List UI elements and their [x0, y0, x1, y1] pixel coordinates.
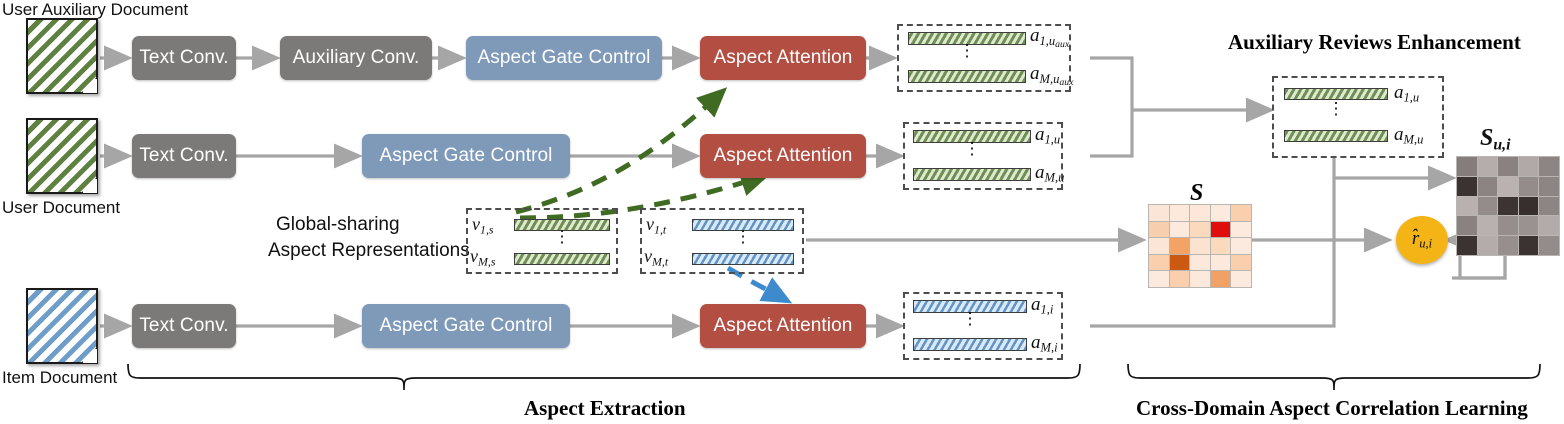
aux-aspect-attention-box[interactable]: Aspect Attention [700, 36, 866, 80]
global-source-label-first: v1,s [472, 214, 494, 237]
document-icon-user-auxiliary [26, 18, 98, 94]
matrix-cell-3-0 [1149, 255, 1169, 271]
aspect-output-label-item-first: a1,i [1031, 294, 1053, 318]
matrix-cell-0-2 [1190, 205, 1210, 221]
matrix-cell-1-3 [1519, 177, 1539, 196]
vertical-ellipsis: ⋮ [514, 234, 610, 240]
matrix-cell-3-3 [1519, 216, 1539, 235]
matrix-cell-1-1 [1478, 177, 1498, 196]
matrix-cell-0-3 [1211, 205, 1231, 221]
box-label: Text Conv. [139, 315, 228, 337]
box-label: Aspect Attention [714, 145, 853, 167]
page-fold-icon [81, 77, 97, 93]
matrix-cell-2-3 [1211, 238, 1231, 254]
item-aspect-gate-control-box[interactable]: Aspect Gate Control [362, 304, 570, 348]
box-label: Text Conv. [139, 47, 228, 69]
matrix-cell-3-4 [1231, 255, 1251, 271]
aux-auxiliary-conv-box[interactable]: Auxiliary Conv. [280, 36, 432, 80]
matrix-cell-4-4 [1231, 271, 1251, 287]
matrix-cell-2-1 [1478, 197, 1498, 216]
matrix-cell-4-1 [1170, 271, 1190, 287]
matrix-cell-3-1 [1478, 216, 1498, 235]
matrix-cell-3-2 [1498, 216, 1518, 235]
matrix-cell-4-0 [1149, 271, 1169, 287]
item-aspect-attention-box[interactable]: Aspect Attention [700, 304, 866, 348]
aspect-output-label-item-last: aM,i [1031, 332, 1058, 356]
matrix-cell-1-2 [1190, 222, 1210, 238]
matrix-cell-2-2 [1190, 238, 1210, 254]
box-label: Auxiliary Conv. [293, 47, 420, 69]
aspect-vector-bar [913, 168, 1031, 181]
enhanced-aspect-label-last: aM,u [1394, 124, 1423, 148]
matrix-cell-4-2 [1498, 236, 1518, 255]
box-label: Aspect Gate Control [380, 315, 553, 337]
matrix-cell-4-4 [1539, 236, 1559, 255]
user-aspect-attention-box[interactable]: Aspect Attention [700, 134, 866, 178]
matrix-cell-0-2 [1498, 157, 1518, 176]
aspect-output-label-aux-last: aM,uaux [1030, 63, 1073, 87]
matrix-cell-3-0 [1457, 216, 1477, 235]
matrix-cell-2-2 [1498, 197, 1518, 216]
enhanced-aspect-label-first: a1,u [1394, 82, 1419, 106]
global-sharing-caption-line2: Aspect Representations [268, 240, 470, 262]
matrix-cell-2-0 [1457, 197, 1477, 216]
global-source-label-last: vM,s [470, 246, 495, 269]
aspect-output-label-user-first: a1,u [1035, 124, 1060, 148]
vertical-ellipsis: ⋮ [913, 316, 1027, 322]
matrix-cell-3-2 [1190, 255, 1210, 271]
correlation-matrix-sui [1456, 156, 1560, 256]
matrix-cell-1-0 [1149, 222, 1169, 238]
aux-aspect-gate-control-box[interactable]: Aspect Gate Control [466, 36, 662, 80]
vertical-ellipsis: ⋮ [908, 48, 1026, 54]
global-target-label-first: v1,t [646, 214, 666, 237]
matrix-cell-1-4 [1231, 222, 1251, 238]
box-label: Aspect Gate Control [478, 47, 651, 69]
matrix-cell-2-3 [1519, 197, 1539, 216]
page-fold-icon [81, 347, 97, 363]
matrix-cell-0-3 [1519, 157, 1539, 176]
item-text-conv-box[interactable]: Text Conv. [132, 304, 236, 348]
matrix-cell-0-4 [1539, 157, 1559, 176]
section-title-cross-domain: Cross-Domain Aspect Correlation Learning [1136, 396, 1528, 421]
vertical-ellipsis: ⋮ [692, 234, 794, 240]
matrix-cell-4-2 [1190, 271, 1210, 287]
matrix-cell-0-1 [1478, 157, 1498, 176]
vertical-ellipsis: ⋮ [1284, 106, 1388, 112]
similarity-matrix-s [1148, 204, 1252, 288]
enhanced-aspect-vector-bar [1284, 130, 1388, 142]
user-text-conv-box[interactable]: Text Conv. [132, 134, 236, 178]
matrix-cell-2-0 [1149, 238, 1169, 254]
matrix-cell-0-0 [1457, 157, 1477, 176]
document-icon-user [26, 118, 98, 194]
matrix-cell-3-1 [1170, 255, 1190, 271]
global-target-vector-bar [692, 253, 794, 265]
prediction-label: r̂u,i [1412, 228, 1432, 252]
matrix-cell-4-1 [1478, 236, 1498, 255]
box-label: Aspect Attention [714, 315, 853, 337]
aspect-vector-bar [913, 338, 1027, 351]
page-fold-icon [81, 177, 97, 193]
section-title-aspect-extraction: Aspect Extraction [524, 396, 686, 421]
matrix-cell-1-2 [1498, 177, 1518, 196]
matrix-cell-2-1 [1170, 238, 1190, 254]
aspect-output-label-aux-first: a1,uaux [1030, 25, 1069, 49]
matrix-cell-2-4 [1539, 197, 1559, 216]
box-label: Aspect Attention [714, 47, 853, 69]
matrix-sui-title: Su,i [1480, 125, 1511, 154]
matrix-s-title: S [1190, 180, 1203, 207]
matrix-cell-0-0 [1149, 205, 1169, 221]
matrix-cell-3-4 [1539, 216, 1559, 235]
matrix-cell-1-0 [1457, 177, 1477, 196]
global-sharing-caption-line1: Global-sharing [276, 214, 400, 236]
matrix-cell-3-3 [1211, 255, 1231, 271]
aspect-output-label-user-last: aM,u [1035, 162, 1064, 186]
matrix-cell-0-1 [1170, 205, 1190, 221]
aspect-vector-bar [908, 70, 1026, 83]
vertical-ellipsis: ⋮ [913, 146, 1031, 152]
box-label: Aspect Gate Control [380, 145, 553, 167]
matrix-cell-4-0 [1457, 236, 1477, 255]
input-label-user-auxiliary-document: User Auxiliary Document [2, 0, 188, 20]
matrix-cell-4-3 [1211, 271, 1231, 287]
prediction-node: r̂u,i [1396, 216, 1448, 264]
architecture-diagram: User Auxiliary Document User Document It… [0, 0, 1564, 424]
global-source-vector-bar [514, 253, 610, 265]
matrix-cell-2-4 [1231, 238, 1251, 254]
matrix-cell-1-1 [1170, 222, 1190, 238]
input-label-item-document: Item Document [2, 368, 117, 388]
matrix-cell-1-4 [1539, 177, 1559, 196]
input-label-user-document: User Document [2, 198, 120, 218]
box-label: Text Conv. [139, 145, 228, 167]
section-title-auxiliary-reviews-enhancement: Auxiliary Reviews Enhancement [1228, 30, 1521, 55]
matrix-cell-0-4 [1231, 205, 1251, 221]
matrix-cell-1-3 [1211, 222, 1231, 238]
aux-text-conv-box[interactable]: Text Conv. [132, 36, 236, 80]
matrix-cell-4-3 [1519, 236, 1539, 255]
user-aspect-gate-control-box[interactable]: Aspect Gate Control [362, 134, 570, 178]
document-icon-item [26, 288, 98, 364]
global-target-label-last: vM,t [644, 246, 668, 269]
